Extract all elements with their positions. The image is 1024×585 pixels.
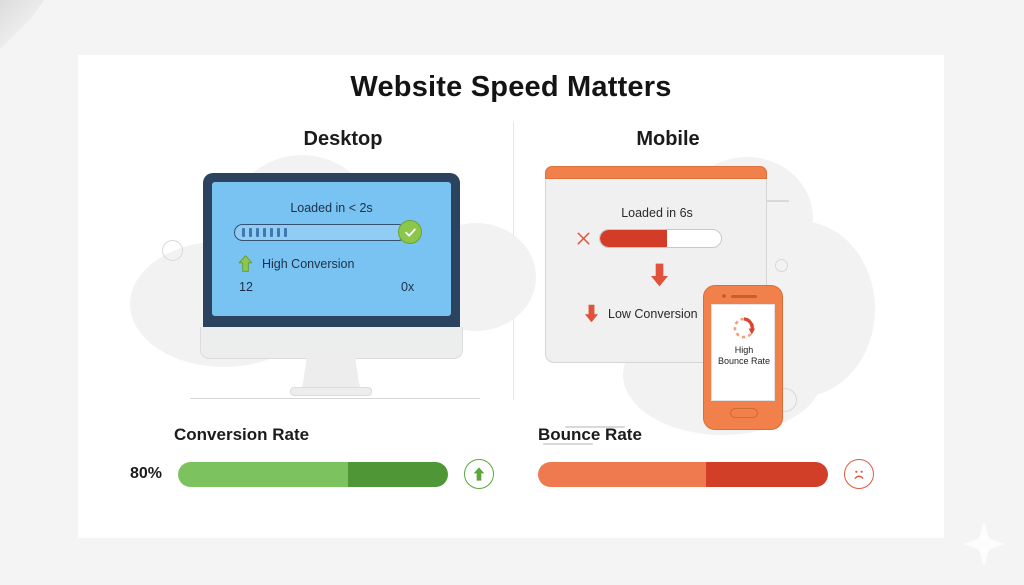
progress-fill [600,230,667,247]
x-mark-icon [576,231,591,246]
desktop-progress-bar [234,224,407,241]
section-heading-mobile: Mobile [593,128,743,151]
desktop-conversion-row: High Conversion [238,255,354,272]
bounce-caption-line2: Bounce Rate [712,356,776,367]
phone-screen: High Bounce Rate [711,304,775,401]
metric-bar-row [538,459,928,489]
metric-title: Bounce Rate [538,425,928,445]
monitor-base [290,387,372,396]
metric-fill-dark [348,462,448,487]
phone-frame: High Bounce Rate [703,285,783,430]
progress-ticks [242,228,287,237]
arrow-up-icon [238,255,253,272]
metric-conversion-rate: Conversion Rate 80% [130,425,520,489]
metric-fill-light [178,462,348,487]
page-title: Website Speed Matters [78,71,944,104]
metric-progress-track [178,462,448,487]
sparkle-icon [963,521,1005,567]
infographic-canvas: Website Speed Matters Desktop Mobile Loa… [0,0,1024,585]
metric-value-label: 80% [130,465,178,483]
metric-progress-track [538,462,828,487]
mobile-illustration: Loaded in 6s Low Conversion [503,155,883,405]
desktop-load-label: Loaded in < 2s [212,201,451,215]
loading-spinner-icon [731,315,757,341]
content-card: Website Speed Matters Desktop Mobile Loa… [78,55,944,538]
circle-decoration [775,259,788,272]
phone-home-button [730,408,758,418]
metric-bounce-rate: Bounce Rate [538,425,928,489]
desktop-conversion-label: High Conversion [262,257,354,271]
mobile-conversion-label: Low Conversion [608,307,698,321]
bounce-caption-line1: High [712,345,776,356]
mobile-conversion-row: Low Conversion [584,304,698,323]
metric-title: Conversion Rate [174,425,520,445]
desktop-metric-left: 12 [239,280,253,294]
monitor-frame: Loaded in < 2s [203,173,460,333]
desk-surface-line [190,398,480,399]
sad-face-circle-icon [844,459,874,489]
check-circle-icon [398,220,422,244]
mobile-load-label: Loaded in 6s [546,206,768,220]
metric-bar-row: 80% [130,459,520,489]
metric-fill-light [538,462,706,487]
monitor-screen: Loaded in < 2s [212,182,451,316]
circle-decoration [162,240,183,261]
mobile-progress-bar [599,229,722,248]
desktop-metric-right: 0x [401,280,414,294]
arrow-down-icon [584,304,599,323]
section-heading-desktop: Desktop [268,128,418,151]
arrow-up-circle-icon [464,459,494,489]
tablet-top-bar [545,166,767,179]
arrow-down-icon [650,262,669,288]
desktop-illustration: Loaded in < 2s [178,155,508,405]
metric-fill-dark [706,462,828,487]
corner-wedge-decoration [0,0,46,62]
phone-camera-icon [722,294,726,298]
monitor-stand [302,358,360,390]
monitor-chin [200,327,463,359]
phone-speaker [731,295,757,298]
bounce-rate-caption: High Bounce Rate [712,345,776,367]
